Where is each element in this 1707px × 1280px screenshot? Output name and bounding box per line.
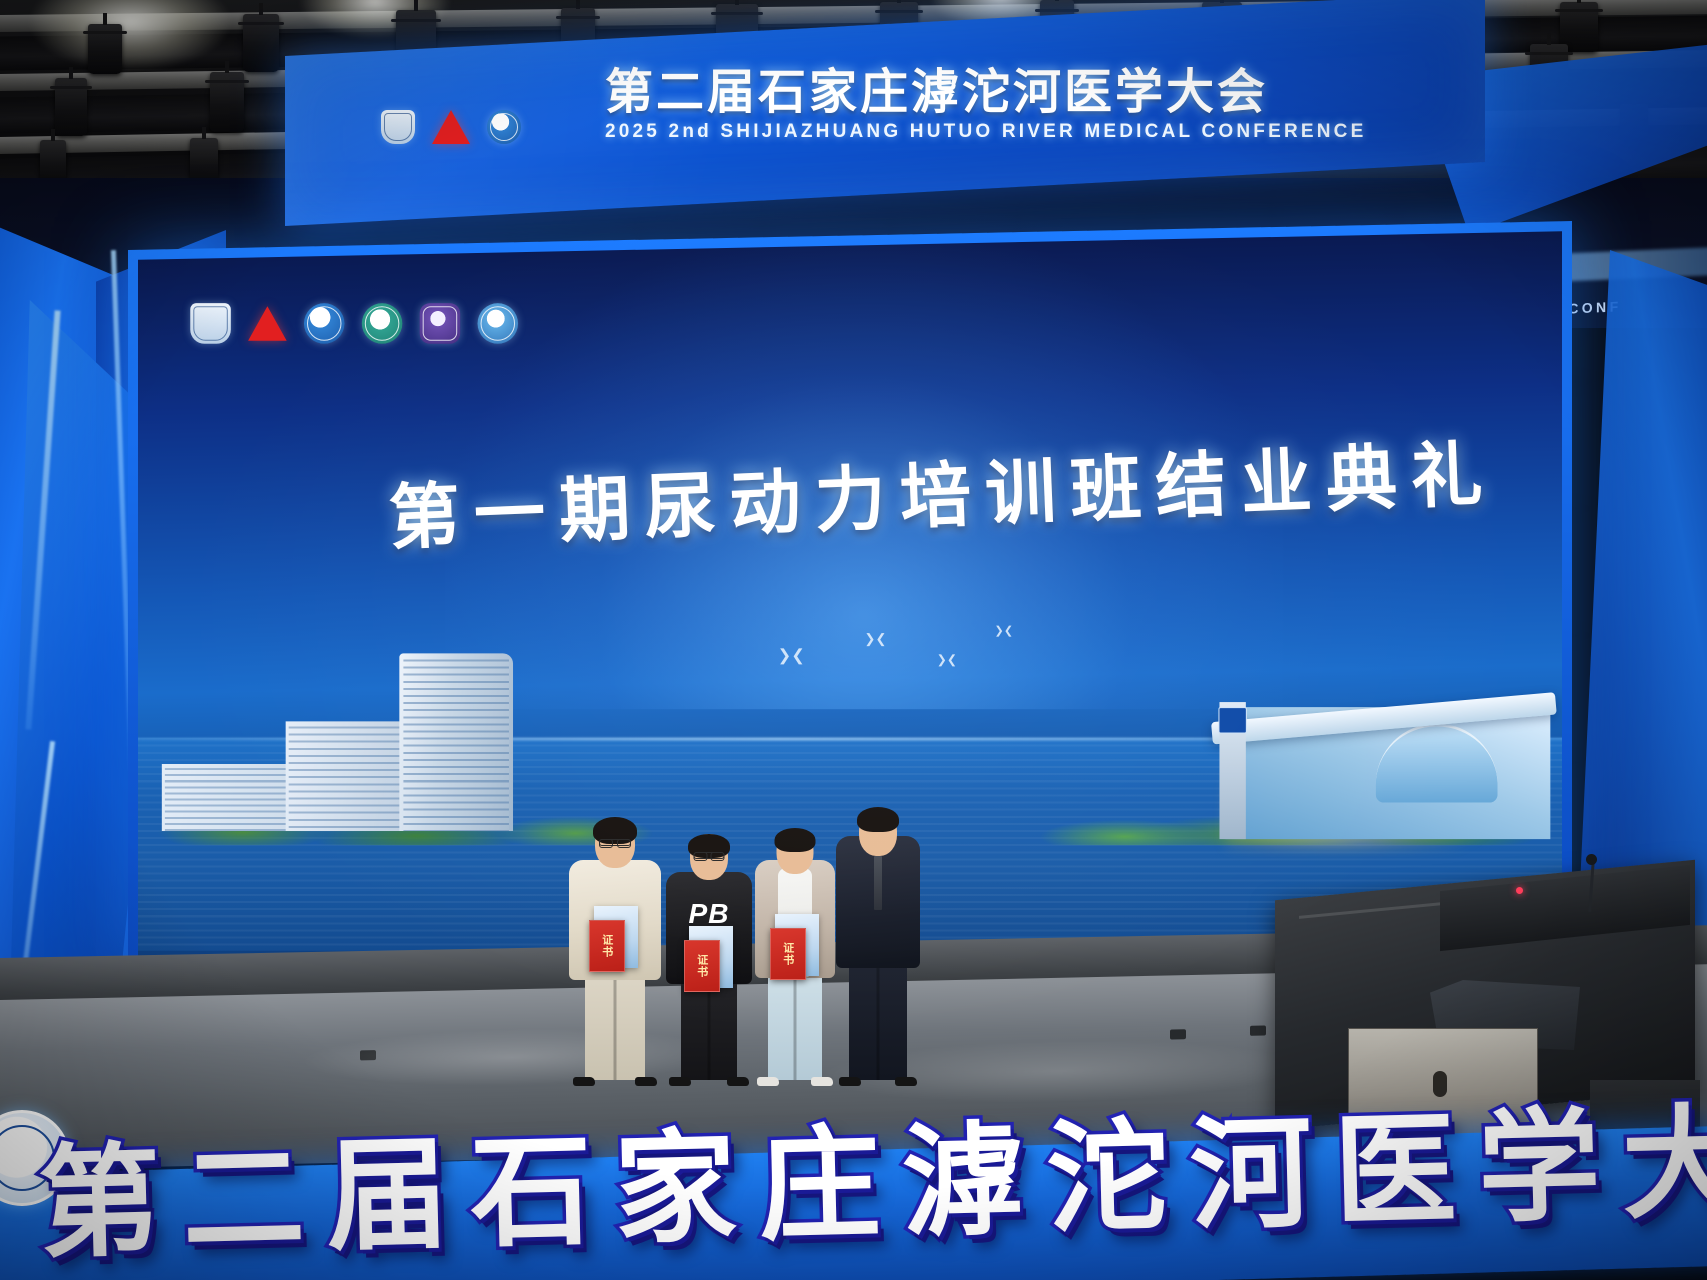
certificate-label: 证书: [696, 954, 708, 978]
provincial-hospital-icon: [477, 303, 518, 344]
stage-light-fixture: [243, 14, 279, 72]
person-presenter-official: [835, 802, 921, 1080]
shoe: [839, 1077, 861, 1086]
award-recipients-group: 证书 PB 证书: [555, 775, 885, 1080]
floor-fixture: [1170, 1029, 1186, 1039]
shoe: [895, 1077, 917, 1086]
header-logo-row: [381, 110, 521, 144]
stage-light-fixture: [55, 78, 87, 136]
medical-association-icon: [487, 110, 521, 144]
stage-scene: 国家区域医疗中心建设筑基强体系·新质生产力赋能医院高质量 第二届石家庄滹沱河医学…: [0, 0, 1707, 1280]
person-graduate-3: 证书: [753, 822, 837, 1080]
stage-set-panel-right: [1577, 250, 1707, 950]
certificate: 证书: [589, 920, 625, 972]
stage-monitor-speaker: [1590, 1080, 1700, 1170]
shoe: [573, 1077, 595, 1086]
glasses-icon: [599, 839, 631, 846]
legs: [768, 970, 822, 1080]
shoe: [727, 1077, 749, 1086]
medical-association-icon: [304, 303, 345, 344]
person-graduate-1: 证书: [567, 818, 663, 1080]
hospital-shield-icon: [381, 110, 415, 144]
screen-hospital-building-right: [1114, 656, 1550, 839]
bird-icon: ❯❮: [937, 652, 957, 666]
hair: [857, 807, 899, 832]
bird-icon: ❯❮: [864, 631, 886, 647]
shoe: [811, 1077, 833, 1086]
certificate-label: 证书: [782, 942, 794, 966]
bird-icon: ❯❮: [995, 624, 1014, 637]
red-triangle-icon: [432, 110, 470, 144]
shoe: [635, 1077, 657, 1086]
shoe: [757, 1077, 779, 1086]
header-title-cn: 第二届石家庄滹沱河医学大会: [605, 68, 1485, 116]
screen-logo-row: [190, 303, 518, 344]
floor-fixture: [1250, 1025, 1266, 1035]
certificate: 证书: [770, 928, 806, 980]
health-commission-icon: [362, 303, 403, 344]
lectern-indicator-light: [1516, 887, 1523, 894]
stage-light-fixture: [88, 24, 122, 74]
legs: [585, 972, 645, 1080]
stage-light-fixture: [210, 72, 244, 132]
hair: [775, 828, 816, 852]
header-title-block: 第二届石家庄滹沱河医学大会 2025 2nd SHIJIAZHUANG HUTU…: [605, 68, 1485, 143]
certificate-label: 证书: [601, 934, 613, 958]
person-graduate-2: PB 证书: [665, 828, 753, 1080]
glasses-icon: [694, 852, 725, 859]
red-triangle-icon: [248, 306, 287, 341]
necktie: [874, 856, 882, 910]
shoe: [669, 1077, 691, 1086]
hospital-shield-icon: [190, 303, 231, 344]
urology-society-icon: [420, 303, 461, 344]
bird-icon: ❯❮: [778, 645, 805, 665]
microphone-icon: [1586, 854, 1597, 865]
header-title-en: 2025 2nd SHIJIAZHUANG HUTUO RIVER MEDICA…: [605, 121, 1485, 143]
wooden-crate: [1348, 1028, 1538, 1146]
certificate: 证书: [684, 940, 720, 992]
legs: [849, 964, 907, 1080]
screen-hospital-building-left: [162, 648, 588, 831]
floor-fixture: [360, 1050, 376, 1060]
